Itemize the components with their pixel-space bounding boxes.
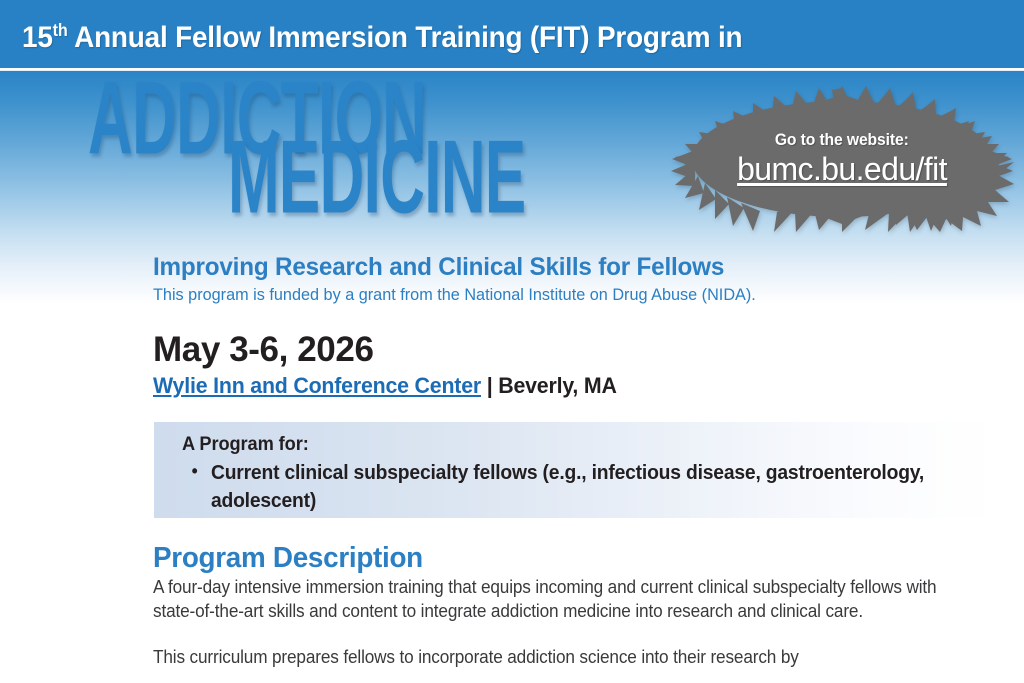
description-paragraph: This curriculum prepares fellows to inco…	[153, 646, 946, 670]
event-dates: May 3-6, 2026	[153, 330, 374, 370]
list-item: Current clinical subspecialty fellows (e…	[182, 460, 944, 515]
program-description-body: A four-day intensive immersion training …	[153, 576, 983, 670]
program-for-list: Current clinical subspecialty fellows (e…	[182, 460, 1000, 515]
program-for-title: A Program for:	[182, 434, 967, 456]
header-ordinal-suffix: th	[53, 20, 68, 40]
program-description-heading: Program Description	[153, 542, 423, 575]
header-bar: 15th Annual Fellow Immersion Training (F…	[0, 0, 1024, 68]
header-ordinal: 15	[22, 21, 53, 54]
description-paragraph: A four-day intensive immersion training …	[153, 576, 946, 624]
venue-link[interactable]: Wylie Inn and Conference Center	[153, 373, 481, 398]
website-starburst-badge[interactable]: Go to the website: bumc.bu.edu/fit	[668, 86, 1016, 232]
venue-location: | Beverly, MA	[481, 373, 617, 398]
subtitle-main: Improving Research and Clinical Skills f…	[153, 253, 968, 282]
flyer-page: 15th Annual Fellow Immersion Training (F…	[0, 0, 1024, 683]
starburst-shape	[668, 86, 1016, 232]
subtitle-funding-note: This program is funded by a grant from t…	[153, 285, 955, 305]
header-title-rest: Annual Fellow Immersion Training (FIT) P…	[68, 21, 743, 54]
subtitle-block: Improving Research and Clinical Skills f…	[153, 253, 993, 305]
masthead-wordmark: ADDICTION MEDICINE	[0, 78, 640, 214]
event-venue: Wylie Inn and Conference Center | Beverl…	[153, 373, 617, 399]
masthead-line-medicine: MEDICINE	[228, 137, 494, 220]
program-for-box: A Program for: Current clinical subspeci…	[154, 422, 1000, 518]
header-title: 15th Annual Fellow Immersion Training (F…	[22, 20, 742, 55]
